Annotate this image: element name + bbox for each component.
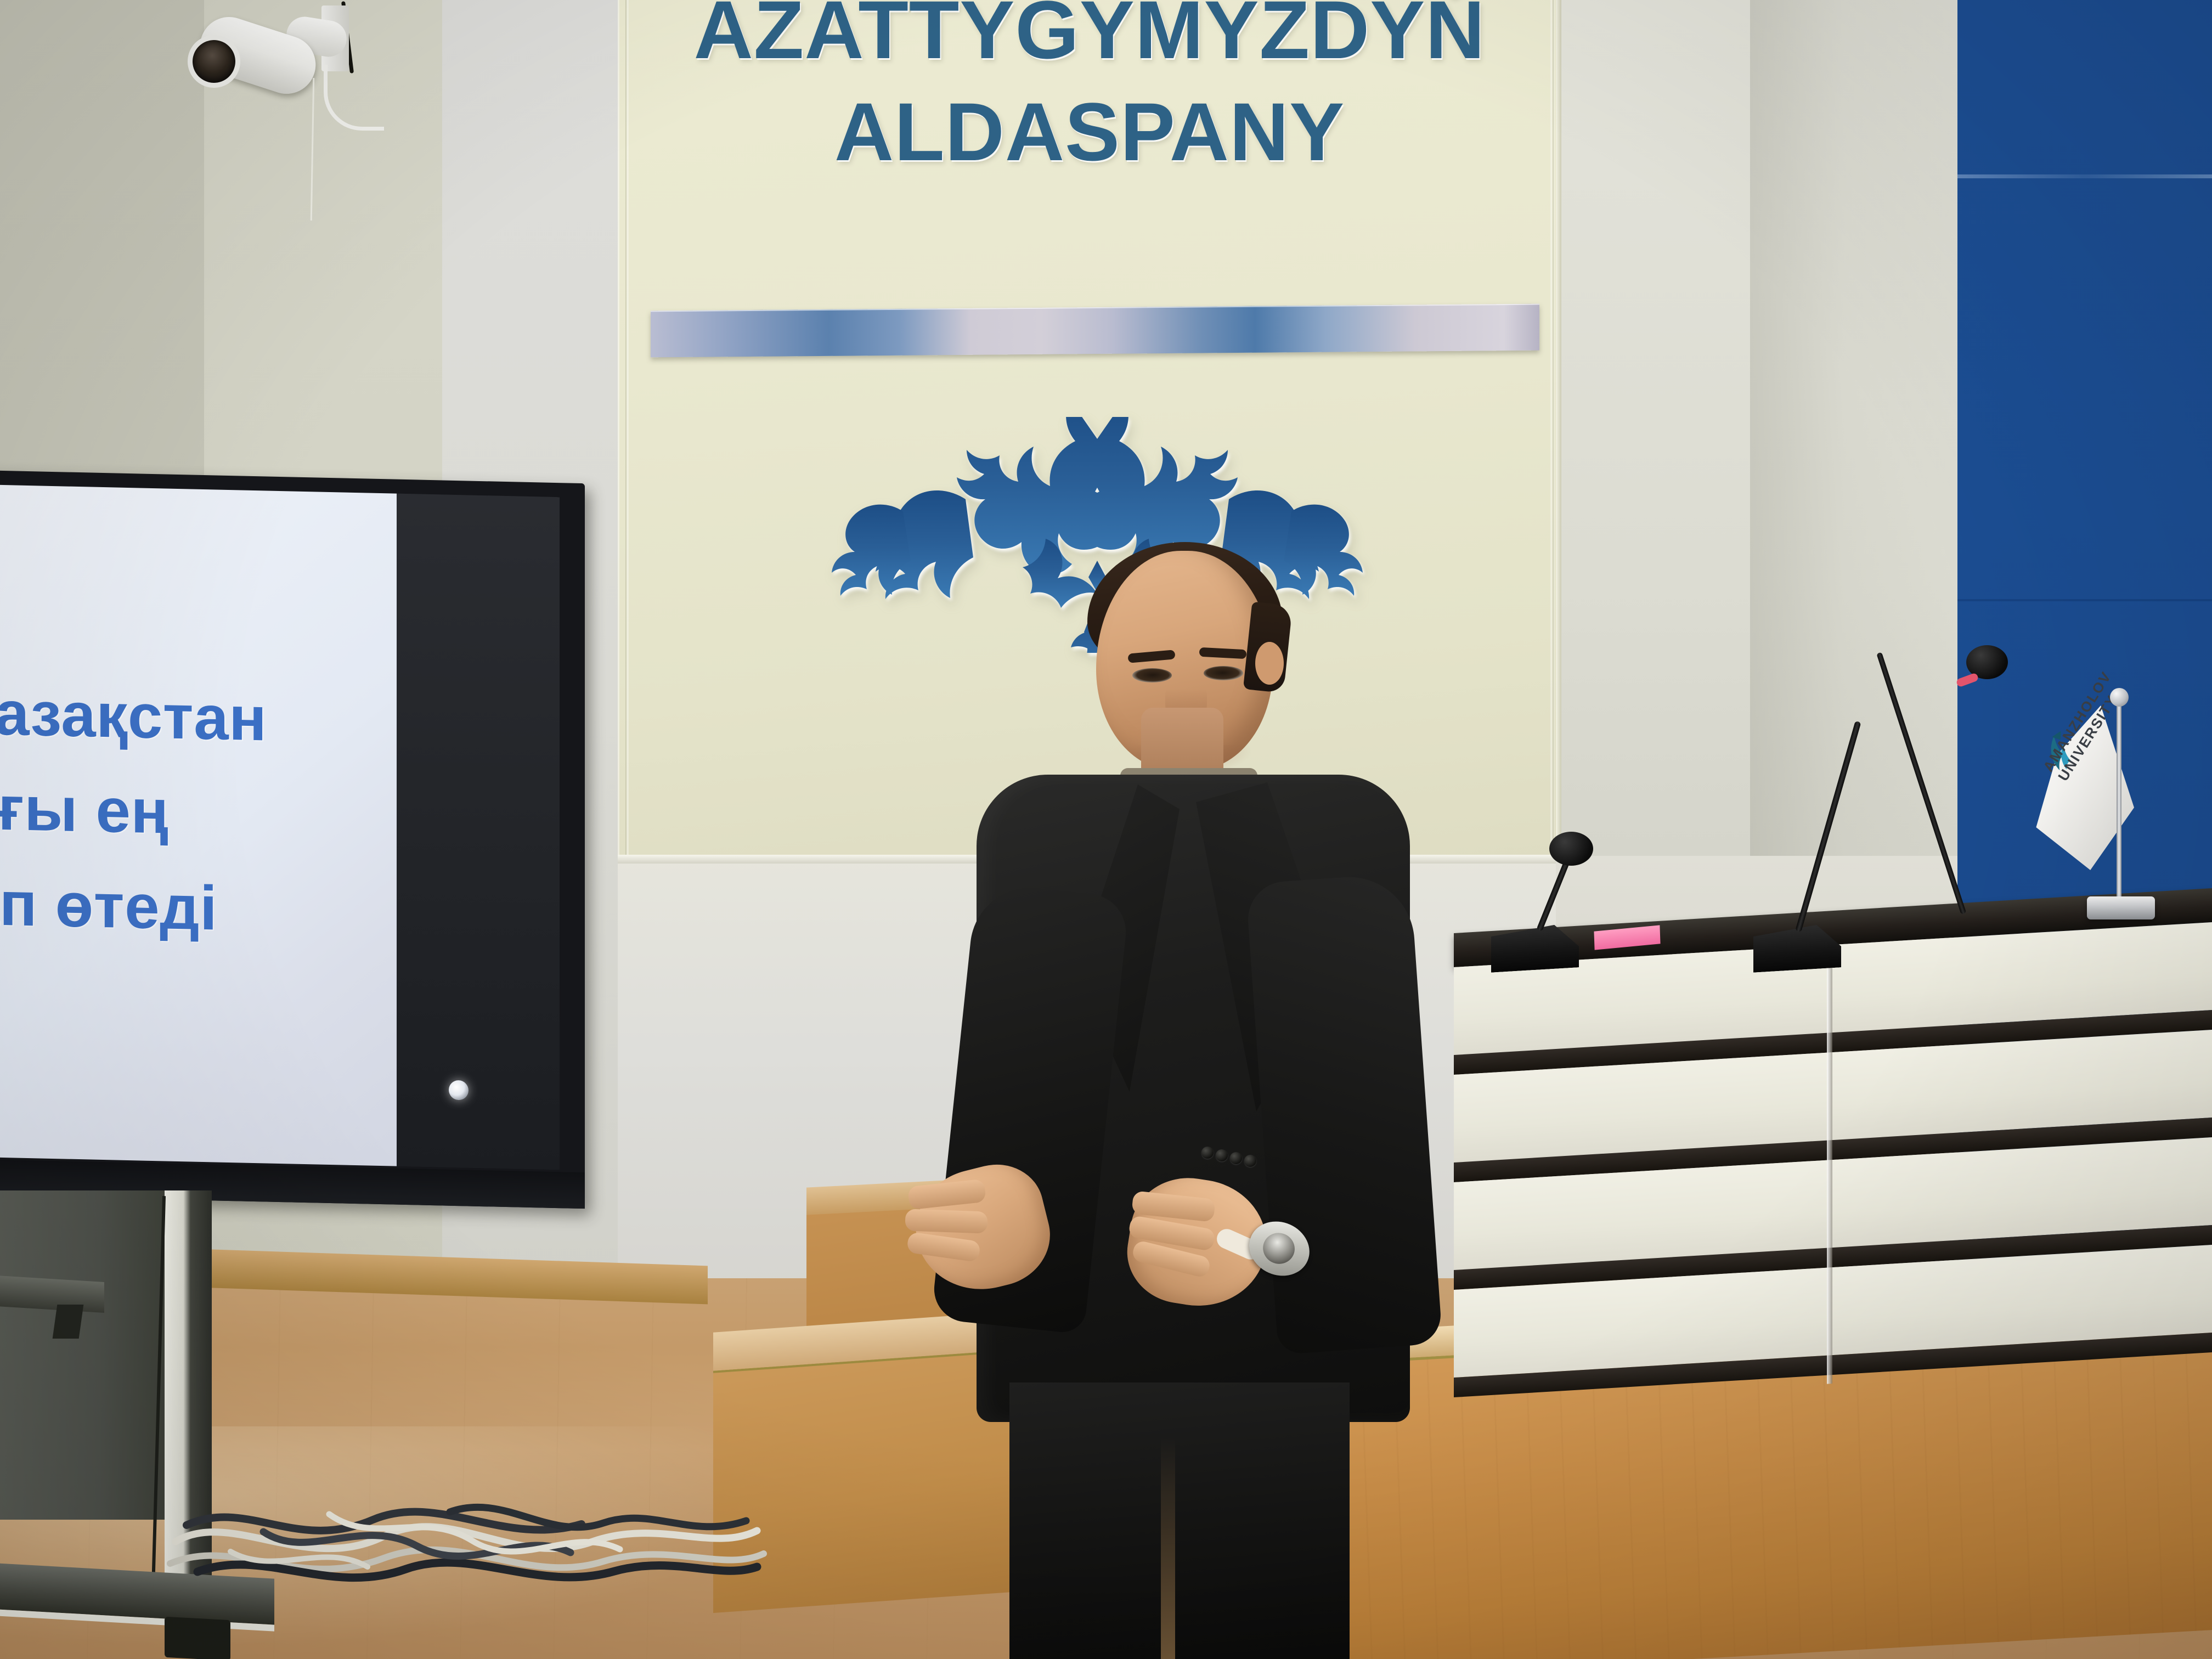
jacket-button-1: [1201, 1147, 1214, 1159]
wall-mounted-tv[interactable]: тінің Қазақстан уындағы ең ты атап өтеді: [0, 469, 585, 1209]
camera-cable-white: [324, 65, 384, 131]
person-trousers: [1009, 1383, 1350, 1659]
metallic-accent-bar: [651, 304, 1539, 358]
wall-sign-line-1: AZATTYǴYMYZDYŃ: [618, 0, 1561, 76]
wall-shadow-gradient: [1750, 0, 1957, 966]
microphone-head-1: [1549, 832, 1593, 866]
tv-cart-shelf-bracket: [53, 1305, 84, 1339]
slide-line-2: уындағы ең: [0, 757, 345, 864]
jacket-button-3: [1230, 1152, 1242, 1164]
slide-line-3: ты атап өтеді: [0, 851, 345, 958]
person-eye-left: [1132, 668, 1172, 682]
person-leg-gap: [1161, 1437, 1175, 1659]
security-camera: [187, 1, 384, 182]
tv-letterbox-bar: [397, 494, 560, 1170]
wall-sign-text: AZATTYǴYMYZDYŃ ALDASPANY: [618, 0, 1561, 178]
floor-cable-bundle: [165, 1459, 768, 1602]
flag-stand-base: [2087, 896, 2155, 919]
flag-finial: [2110, 688, 2129, 707]
tv-cart-column: [0, 1190, 165, 1520]
tv-screen[interactable]: тінің Қазақстан уындағы ең ты атап өтеді: [0, 483, 397, 1166]
flag-pole: [2117, 700, 2121, 903]
wall-sign-line-2: ALDASPANY: [618, 86, 1561, 178]
jacket-button-4: [1244, 1155, 1256, 1167]
presenter-person: [911, 527, 1459, 1659]
blue-panel-seam-lower: [1957, 599, 2212, 601]
tv-cart-wheel: [165, 1617, 230, 1659]
person-finger-l2: [905, 1209, 988, 1233]
blue-panel-seam: [1957, 174, 2212, 178]
person-ear: [1255, 642, 1284, 685]
person-jacket-buttons: [1201, 1147, 1267, 1169]
desk-flag: AMANZHOLOV UNIVERSITY: [2030, 674, 2172, 932]
desk-vertical-seam: [1827, 945, 1832, 1384]
slide-text-block: тінің Қазақстан уындағы ең ты атап өтеді: [0, 662, 345, 959]
person-eye-right: [1204, 666, 1243, 680]
slide-line-1: тінің Қазақстан: [0, 662, 345, 769]
person-arm-right: [1245, 873, 1442, 1355]
conference-hall-photo: AZATTYǴYMYZDYŃ ALDASPANY: [0, 0, 2212, 1659]
tv-inner-frame: тінің Қазақстан уындағы ең ты атап өтеді: [0, 483, 560, 1170]
jacket-button-2: [1216, 1149, 1228, 1161]
